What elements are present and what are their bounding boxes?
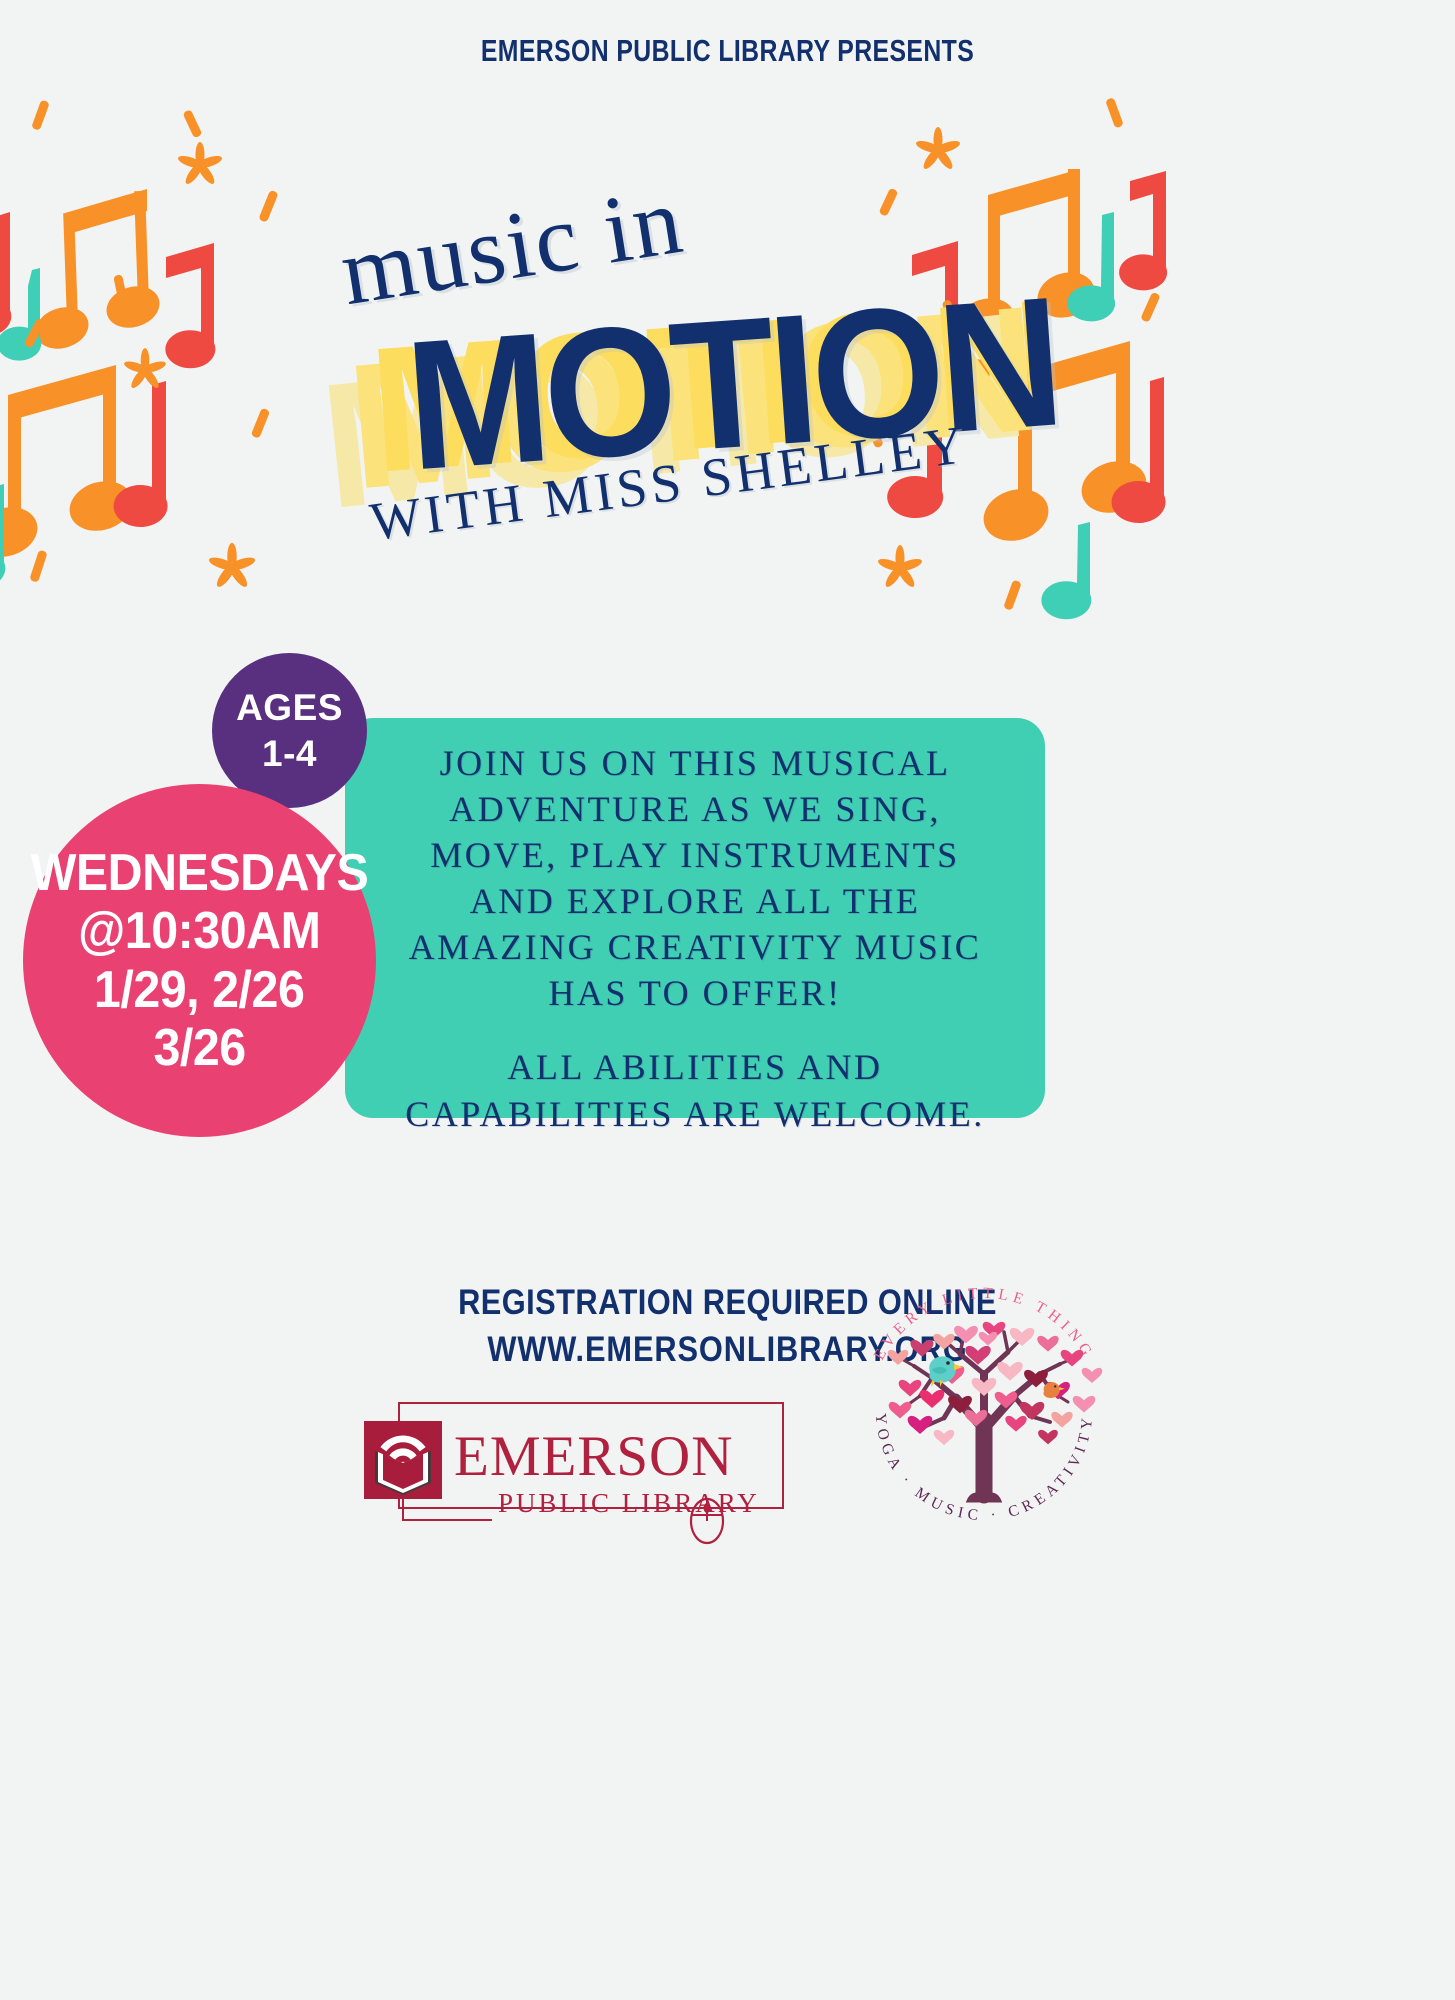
schedule-dates-2: 3/26	[153, 1019, 245, 1077]
registration-notice: REGISTRATION REQUIRED ONLINE	[87, 1283, 1367, 1323]
description-p1-line-3: MOVE, PLAY INSTRUMENTS	[430, 835, 959, 875]
schedule-day: WEDNESDAYS	[31, 844, 369, 902]
logo-rule	[402, 1519, 492, 1521]
website-url[interactable]: WWW.EMERSONLIBRARY.ORG	[87, 1330, 1367, 1370]
left-music-notes-decoration	[0, 85, 300, 625]
page-title: EMERSON PUBLIC LIBRARY PRESENTS	[146, 33, 1310, 69]
description-text: JOIN US ON THIS MUSICAL ADVENTURE AS WE …	[345, 740, 1045, 1137]
every-little-thing-logo: EVERY LITTLE THING YOGA · MUSIC · CREATI…	[848, 1270, 1120, 1542]
computer-mouse-icon	[688, 1493, 726, 1545]
description-p1-line-6: HAS TO OFFER!	[548, 973, 841, 1013]
left-sparkle-decoration	[0, 80, 330, 640]
logo-stem	[402, 1499, 404, 1521]
description-p1-line-5: AMAZING CREATIVITY MUSIC	[409, 927, 982, 967]
schedule-dates-1: 1/29, 2/26	[94, 961, 304, 1019]
emerson-library-logo: EMERSON PUBLIC LIBRARY	[358, 1398, 788, 1538]
logo-name: EMERSON	[454, 1424, 733, 1489]
description-p1-line-2: ADVENTURE AS WE SING,	[449, 789, 941, 829]
description-p1-line-4: AND EXPLORE ALL THE	[470, 881, 920, 921]
ages-badge-value: 1-4	[262, 733, 317, 775]
description-p2-line-2: CAPABILITIES ARE WELCOME.	[405, 1094, 985, 1134]
description-p2-line-1: ALL ABILITIES AND	[507, 1047, 882, 1087]
ages-badge: AGES 1-4	[212, 653, 367, 808]
poster-canvas: EMERSON PUBLIC LIBRARY PRESENTS	[0, 0, 1455, 2000]
schedule-badge: WEDNESDAYS @10:30AM 1/29, 2/26 3/26	[23, 784, 376, 1137]
ages-badge-label: AGES	[236, 687, 343, 729]
description-p1-line-1: JOIN US ON THIS MUSICAL	[440, 743, 951, 783]
description-spacer	[345, 1016, 1045, 1044]
book-wifi-icon	[364, 1421, 442, 1499]
schedule-time: @10:30AM	[78, 902, 320, 960]
